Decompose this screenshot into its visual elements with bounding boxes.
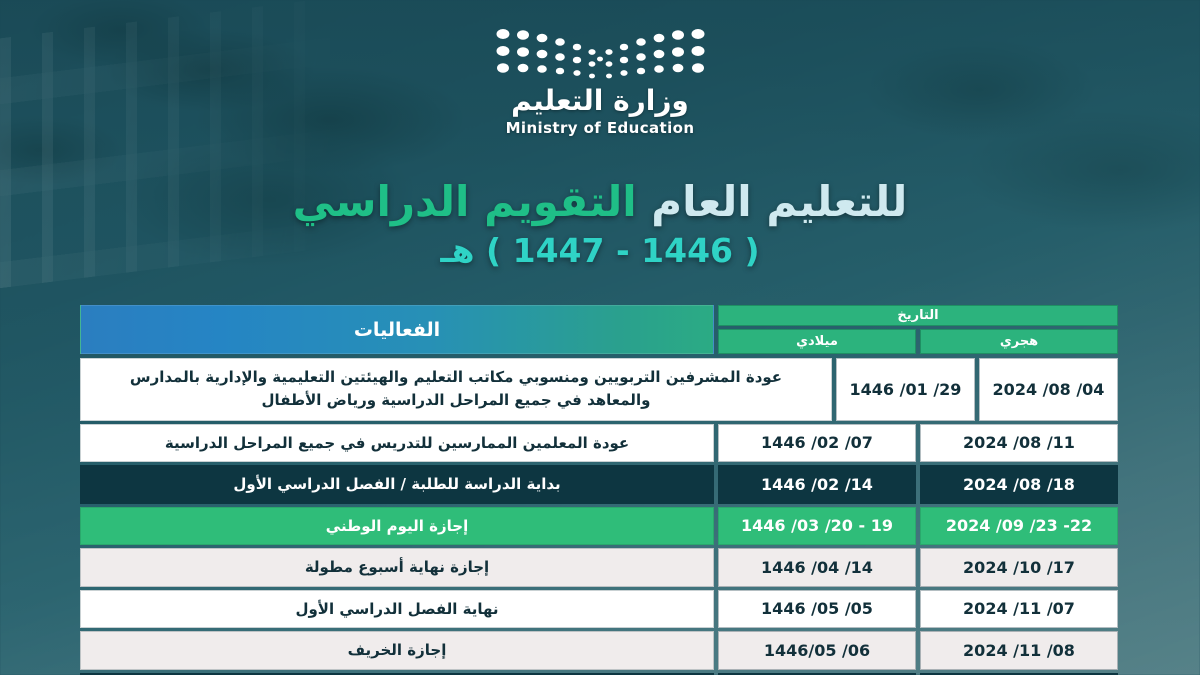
table-row: 2024 /08 /041446 /01 /29عودة المشرفين ال… [80,358,1118,421]
cell-hijri-date: 1446 /03 /20 - 19 [718,507,916,546]
ministry-logo-block: وزارة التعليم Ministry of Education [440,26,760,137]
cell-event-description: عودة المعلمين الممارسين للتدريس في جميع … [80,424,714,463]
column-header-gregorian: ميلادي [718,329,916,354]
column-header-hijri: هجري [920,329,1118,354]
cell-gregorian-date: 2024 /08 /04 [979,358,1118,421]
page-title-green-part: التقويم الدراسي [293,177,637,226]
page-title-block: للتعليم العام التقويم الدراسي ( 1446 - 1… [0,178,1200,270]
table-body: 2024 /08 /041446 /01 /29عودة المشرفين ال… [80,358,1118,675]
ministry-name-arabic: وزارة التعليم [440,86,760,117]
page-title-light-part: للتعليم العام [651,177,907,226]
column-header-date: التاريخ [718,305,1118,326]
table-row: 2024 /10 /171446 /04 /14إجازة نهاية أسبو… [80,548,1118,587]
cell-event-description: إجازة الخريف [80,631,714,670]
moe-dots-logo-icon [493,26,708,82]
cell-gregorian-date: 2024 /09 /23 -22 [920,507,1118,546]
table-row: 2024 /08 /111446 /02 /07عودة المعلمين ال… [80,424,1118,463]
cell-hijri-date: 1446 /02 /14 [718,465,916,504]
cell-event-description: بداية الدراسة للطلبة / الفصل الدراسي الأ… [80,465,714,504]
table-row: 2024 /09 /23 -221446 /03 /20 - 19إجازة ا… [80,507,1118,546]
table-row: 2024 /08 /181446 /02 /14بداية الدراسة لل… [80,465,1118,504]
calendar-poster: وزارة التعليم Ministry of Education للتع… [0,0,1200,675]
ministry-name-english: Ministry of Education [440,119,760,137]
page-subtitle: ( 1446 - 1447 ) هـ [0,231,1200,270]
cell-hijri-date: 1446/05 /06 [718,631,916,670]
cell-event-description: إجازة اليوم الوطني [80,507,714,546]
table-header-row: التاريخ هجري ميلادي الفعاليات [80,305,1118,354]
date-header-group: التاريخ هجري ميلادي [718,305,1118,354]
cell-hijri-date: 1446 /02 /07 [718,424,916,463]
table-row: 2024 /11 /071446 /05 /05نهاية الفصل الدر… [80,590,1118,629]
cell-event-description: إجازة نهاية أسبوع مطولة [80,548,714,587]
cell-hijri-date: 1446 /01 /29 [836,358,975,421]
cell-gregorian-date: 2024 /11 /07 [920,590,1118,629]
cell-event-description: نهاية الفصل الدراسي الأول [80,590,714,629]
cell-gregorian-date: 2024 /11 /08 [920,631,1118,670]
cell-gregorian-date: 2024 /10 /17 [920,548,1118,587]
cell-hijri-date: 1446 /05 /05 [718,590,916,629]
table-row: 2024 /11 /081446/05 /06إجازة الخريف [80,631,1118,670]
cell-event-description: عودة المشرفين التربويين ومنسوبي مكاتب ال… [80,358,832,421]
cell-gregorian-date: 2024 /08 /18 [920,465,1118,504]
cell-gregorian-date: 2024 /08 /11 [920,424,1118,463]
page-title: للتعليم العام التقويم الدراسي [0,178,1200,225]
date-subheaders: هجري ميلادي [718,329,1118,354]
cell-hijri-date: 1446 /04 /14 [718,548,916,587]
academic-calendar-table: التاريخ هجري ميلادي الفعاليات 2024 /08 /… [80,305,1118,675]
column-header-events: الفعاليات [80,305,714,354]
